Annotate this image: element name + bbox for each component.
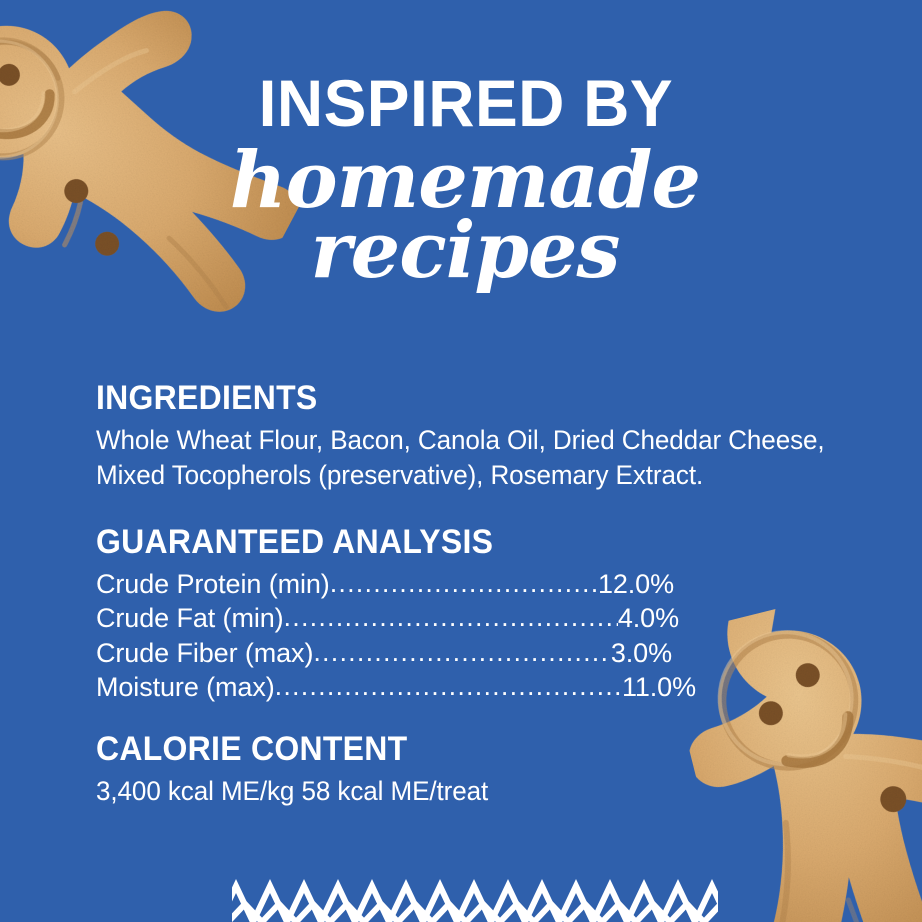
guaranteed-analysis-heading: GUARANTEED ANALYSIS xyxy=(96,524,857,561)
ingredients-heading: INGREDIENTS xyxy=(96,380,857,417)
spacer xyxy=(96,494,906,524)
analysis-value: 12.0% xyxy=(598,567,674,602)
analysis-label: Crude Fat (min) xyxy=(96,601,284,636)
analysis-value: 4.0% xyxy=(618,601,679,636)
analysis-row: Crude Fat (min) ........................… xyxy=(96,601,679,636)
hero-line-inspired-by: INSPIRED BY xyxy=(14,70,908,136)
analysis-label: Crude Protein (min) xyxy=(96,567,330,602)
leader-dots: ........................................… xyxy=(275,669,622,704)
ingredients-text: Whole Wheat Flour, Bacon, Canola Oil, Dr… xyxy=(96,423,878,494)
analysis-row: Moisture (max) .........................… xyxy=(96,670,696,705)
hero-line-recipes: recipes xyxy=(0,212,922,290)
leader-dots: ........................................… xyxy=(284,600,618,635)
analysis-label: Crude Fiber (max) xyxy=(96,636,313,671)
analysis-row: Crude Fiber (max) ......................… xyxy=(96,636,672,671)
hero-header: INSPIRED BY homemade recipes xyxy=(0,0,922,330)
packaging-panel: INSPIRED BY homemade recipes INGREDIENTS… xyxy=(0,0,922,922)
analysis-row: Crude Protein (min) ....................… xyxy=(96,567,674,602)
leader-dots: ........................................… xyxy=(313,635,610,670)
leader-dots: ........................................… xyxy=(330,566,598,601)
zigzag-border xyxy=(232,870,718,922)
analysis-label: Moisture (max) xyxy=(96,670,275,705)
